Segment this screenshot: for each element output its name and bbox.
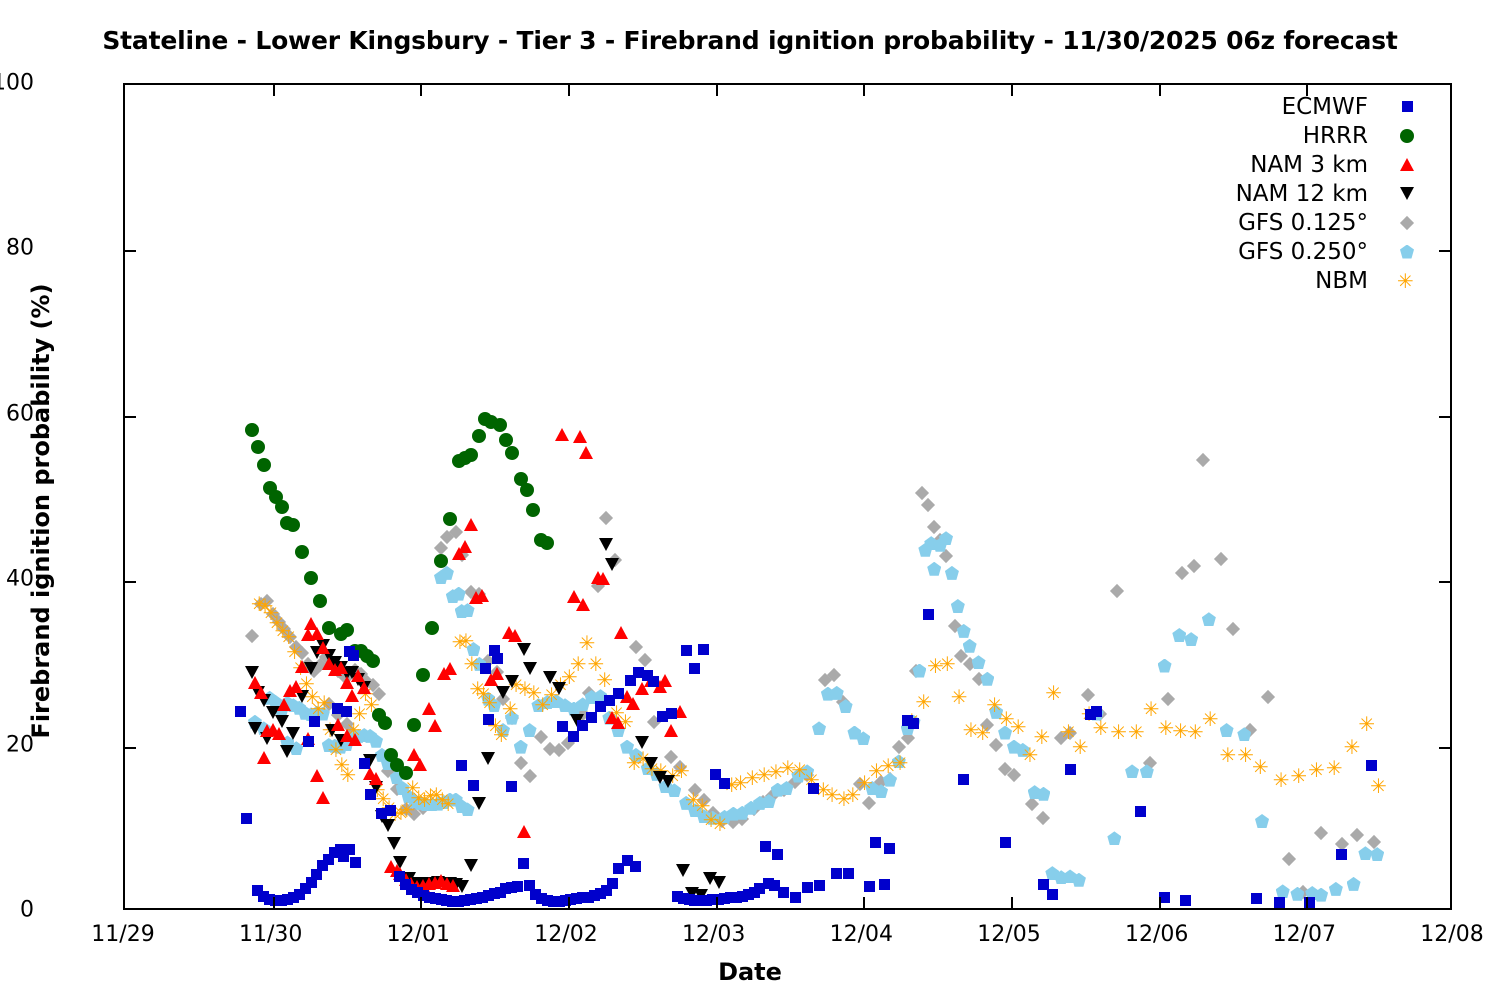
data-point [390,758,404,772]
data-point [363,754,377,767]
legend-label: NAM 3 km [1250,152,1368,178]
data-point [338,851,349,862]
data-point [286,727,300,740]
data-point [366,654,380,668]
data-point [666,708,677,719]
data-point [549,694,563,708]
data-point [334,734,348,747]
data-point [276,895,287,906]
data-point: ✳ [868,761,885,781]
data-point [351,669,365,682]
data-point [629,640,643,654]
data-point [390,770,404,784]
data-point [543,742,557,756]
data-point [280,735,294,749]
data-point [763,878,774,889]
data-point [1314,888,1328,902]
legend-marker-glyph [1400,129,1414,143]
legend-item-nam-3-km[interactable]: NAM 3 km [1150,150,1418,179]
data-point [948,619,962,633]
data-point [1007,740,1021,754]
data-point [599,538,613,551]
data-point [419,797,433,811]
data-point [901,721,915,735]
data-point: ✳ [635,749,652,769]
data-point [360,675,374,689]
data-point: ✳ [357,684,374,704]
data-point [289,680,303,693]
data-point [954,649,968,663]
data-point [310,627,324,640]
data-point [365,789,376,800]
data-point [335,844,346,855]
data-point [416,801,430,815]
legend: ECMWFHRRRNAM 3 kmNAM 12 kmGFS 0.125°GFS … [1150,92,1418,295]
data-point [648,676,659,687]
data-point: ✳ [998,709,1015,729]
data-point [821,687,835,701]
data-point [328,663,342,676]
data-point [280,516,294,530]
x-axis-tick [1011,897,1013,908]
data-point [744,801,758,815]
data-point [468,780,479,791]
data-point [322,697,336,711]
data-point [263,481,277,495]
data-point [472,587,486,601]
data-point: ✳ [1010,717,1027,737]
data-point [591,571,605,584]
data-point [334,627,348,641]
x-axis-tick [420,85,422,96]
data-point [506,781,517,792]
data-point [883,772,897,786]
data-point [490,665,504,679]
data-point: ✳ [304,687,321,707]
data-point [481,752,495,765]
data-point [369,781,383,794]
data-point [440,566,454,580]
data-point [762,794,776,808]
data-point [681,645,692,656]
y-axis-tick [125,250,136,252]
data-point [288,892,299,903]
data-point [710,769,721,780]
data-point [340,729,354,742]
data-point [477,892,488,903]
y-axis-tick [1439,250,1450,252]
data-point [461,802,475,816]
data-point [1047,889,1058,900]
data-point [558,698,572,712]
data-point [1160,692,1174,706]
data-point [323,854,334,865]
legend-item-nam-12-km[interactable]: NAM 12 km [1150,179,1418,208]
data-point [635,682,649,695]
data-point [489,645,500,656]
data-point [1093,706,1107,720]
data-point [998,726,1012,740]
data-point [331,708,345,722]
data-point [407,794,421,808]
data-point [363,729,377,743]
data-point [760,841,771,852]
data-point [555,428,569,441]
data-point [422,877,436,890]
data-point [385,805,396,816]
data-point [1081,688,1095,702]
data-point [719,778,730,789]
data-point [416,879,430,892]
data-point [998,762,1012,776]
data-point [735,806,749,820]
data-point [641,761,655,775]
data-point [245,629,259,643]
data-point [595,701,606,712]
data-point [790,892,801,903]
data-point [340,676,354,689]
data-point [301,657,315,671]
data-point [251,686,265,699]
data-point [644,757,658,770]
x-axis-tick-label: 11/30 [239,922,302,947]
data-point [749,887,760,898]
data-point [661,775,675,788]
data-point: ✳ [644,759,661,779]
data-point [455,799,469,813]
data-point [248,722,262,735]
legend-item-gfs-0-250[interactable]: GFS 0.250° [1150,237,1418,266]
legend-item-nbm[interactable]: NBM✳ [1150,266,1418,295]
data-point [557,721,568,732]
data-point [313,658,327,672]
data-point [425,877,439,890]
data-point: ✳ [345,720,362,740]
data-point [252,885,263,896]
data-point [1036,787,1050,801]
data-point [428,719,442,732]
y-axis-tick [125,581,136,583]
data-point: ✳ [1033,727,1050,747]
data-point [275,715,289,728]
data-point [406,884,417,895]
data-point [614,626,628,639]
data-point [483,714,494,725]
data-point [554,896,565,907]
data-point [430,893,441,904]
data-point [836,695,850,709]
data-point [514,740,528,754]
data-point [972,655,986,669]
data-point [747,802,761,816]
data-point [316,791,330,804]
data-point: ✳ [1081,704,1098,724]
data-point [258,891,269,902]
data-point [714,814,728,828]
data-point [289,741,303,755]
data-point [951,599,965,613]
data-point: ✳ [399,800,416,820]
data-point [1125,764,1139,778]
data-point [530,889,541,900]
data-point [472,797,486,810]
data-point [490,667,504,680]
data-point: ✳ [673,761,690,781]
data-point [235,706,246,717]
data-point [328,656,342,669]
data-point [642,670,653,681]
data-point: ✳ [732,773,749,793]
data-point [399,766,413,780]
data-point [611,716,625,729]
data-point [1110,584,1124,598]
data-point: ✳ [487,716,504,736]
data-point [576,706,590,720]
data-point [331,718,345,731]
data-point [658,674,672,687]
data-point [443,877,457,890]
data-point [1065,764,1076,775]
data-point [657,711,668,722]
legend-item-gfs-0-125[interactable]: GFS 0.125° [1150,208,1418,237]
data-point [331,663,345,677]
data-point [918,543,932,557]
data-point [1347,877,1361,891]
data-point [879,879,890,890]
data-point [939,531,953,545]
data-point [622,855,633,866]
data-point [465,894,476,905]
data-point [375,748,389,762]
data-point [958,774,969,785]
data-point [354,644,368,658]
data-point: ✳ [263,603,280,623]
data-point [577,892,588,903]
data-point [912,664,926,678]
data-point [334,661,348,674]
legend-item-ecmwf[interactable]: ECMWF [1150,92,1418,121]
data-point [737,891,748,902]
data-point [257,458,271,472]
data-point [590,579,604,593]
data-point: ✳ [836,789,853,809]
data-point [630,861,641,872]
legend-marker-glyph [1400,245,1414,259]
data-point: ✳ [328,740,345,760]
data-point [731,892,742,903]
data-point [1063,726,1077,740]
data-point [508,629,522,642]
data-point [839,699,853,713]
data-point [393,856,407,869]
legend-label: NBM [1315,268,1368,294]
data-point [908,718,919,729]
data-point [672,891,683,902]
data-point [275,703,289,717]
data-point: ✳ [756,765,773,785]
data-point [458,451,472,465]
data-point [434,554,448,568]
data-point [625,675,636,686]
data-point [310,646,324,659]
data-point [372,708,386,722]
data-point [927,520,941,534]
data-point [369,734,383,748]
x-axis-tick-label: 12/06 [1125,922,1188,947]
data-point [706,811,720,825]
data-point [664,724,678,737]
data-point [436,894,447,905]
data-point [517,643,531,656]
data-point [853,777,867,791]
data-point [689,895,700,906]
x-axis-tick [420,897,422,908]
data-point [1140,764,1154,778]
legend-item-hrrr[interactable]: HRRR [1150,121,1418,150]
data-point: ✳ [334,755,351,775]
data-point: ✳ [508,675,525,695]
data-point [611,723,625,737]
data-point [689,663,700,674]
data-point [540,536,554,550]
data-point: ✳ [298,674,315,694]
data-point [345,689,359,702]
data-point [725,892,736,903]
data-point [685,887,699,900]
data-point: ✳ [434,790,451,810]
data-point: ✳ [381,798,398,818]
data-point [1196,453,1210,467]
data-point: ✳ [339,765,356,785]
data-point [647,715,661,729]
data-point [487,698,501,712]
data-point [514,472,528,486]
data-point [322,657,336,670]
data-point [311,869,322,880]
data-point: ✳ [469,679,486,699]
data-point [363,767,377,780]
data-point: ✳ [744,768,761,788]
data-point: ✳ [452,632,469,652]
data-point [400,879,411,890]
data-point: ✳ [844,785,861,805]
data-point [336,669,350,683]
data-point [865,781,879,795]
data-point: ✳ [257,596,274,616]
data-point [446,879,460,892]
data-point [626,697,640,710]
data-point [874,784,888,798]
data-point [272,727,286,740]
data-point [923,609,934,620]
data-point [567,590,581,603]
data-point [788,775,802,789]
data-point [496,692,510,706]
data-point [428,876,442,889]
data-point [275,500,289,514]
data-point [407,748,421,761]
x-axis-tick [568,897,570,908]
data-point [1243,723,1257,737]
data-point [381,764,395,778]
data-point [927,562,941,576]
data-point [697,793,711,807]
data-point [304,617,318,630]
legend-label: ECMWF [1282,94,1368,120]
data-point [298,706,312,720]
data-point: ✳ [416,790,433,810]
data-point [664,750,678,764]
data-point [697,809,711,823]
data-point: ✳ [951,687,968,707]
data-point [328,739,342,753]
data-point [260,594,274,608]
data-point: ✳ [481,693,498,713]
data-point [301,732,315,745]
data-point [679,796,693,810]
data-point [304,662,318,675]
data-point [989,705,1003,719]
data-point [907,715,921,729]
data-point [1091,706,1102,717]
data-point [455,604,469,618]
data-point [269,490,283,504]
data-point [495,887,506,898]
data-point [570,714,584,727]
data-point [489,888,500,899]
data-point: ✳ [475,684,492,704]
data-point: ✳ [393,803,410,823]
x-axis-tick [863,85,865,96]
data-point: ✳ [269,613,286,633]
data-point [407,807,421,821]
data-point [357,681,371,694]
data-point: ✳ [723,775,740,795]
data-point [1000,837,1011,848]
data-point [1314,826,1328,840]
data-point [399,873,413,886]
x-axis-tick [1011,85,1013,96]
y-axis-tick-label: 0 [20,898,34,923]
data-point: ✳ [502,699,519,719]
data-point [644,674,658,687]
data-point [808,783,819,794]
data-point [1358,846,1372,860]
x-axis-tick [863,897,865,908]
data-point [307,663,321,677]
data-point [306,877,317,888]
data-point [864,881,875,892]
data-point: ✳ [815,780,832,800]
data-point [520,483,534,497]
y-axis-title: Firebrand ignition probability (%) [27,131,55,891]
data-point [818,673,832,687]
data-point [753,796,767,810]
data-point [695,895,706,906]
data-point [552,743,566,757]
data-point [989,738,1003,752]
data-point [419,877,433,890]
data-point [688,783,702,797]
data-point [1187,559,1201,573]
data-point [475,589,489,602]
data-point [915,486,929,500]
data-point [800,768,814,782]
data-point [1276,884,1290,898]
data-point [402,872,416,885]
data-point [295,646,309,660]
data-point [431,797,445,811]
